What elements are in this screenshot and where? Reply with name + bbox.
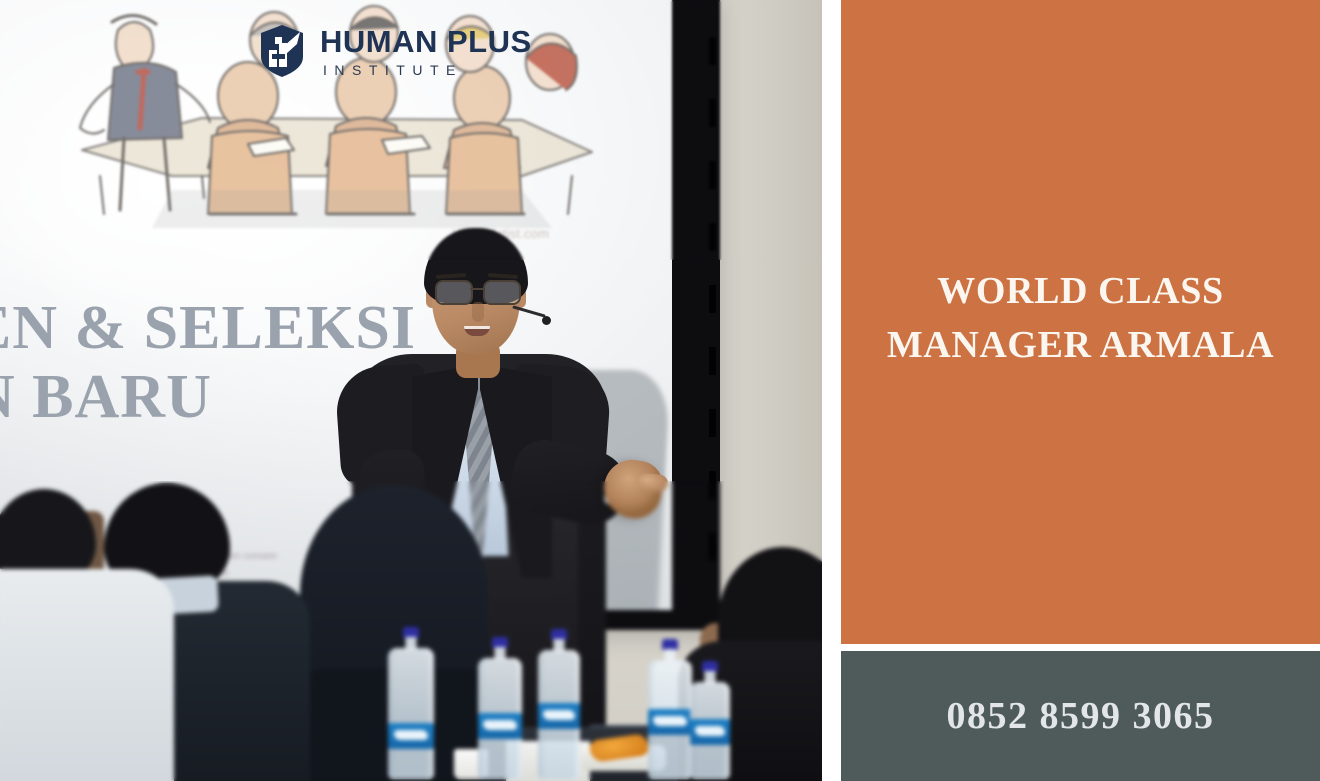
logo-title: HUMAN PLUS — [320, 26, 532, 57]
poster-root: HikingArtist.com TMEN & SELEKSI WAN BARU… — [0, 0, 1320, 781]
logo-subtitle: INSTITUTE — [320, 63, 532, 77]
audience-foreground — [0, 481, 822, 781]
poster-title-line-2: MANAGER ARMALA — [887, 319, 1274, 373]
eyeglass-lens-right — [483, 280, 521, 305]
logo-wordmark: HUMAN PLUS INSTITUTE — [320, 26, 532, 77]
contact-panel[interactable]: 0852 8599 3065 — [841, 651, 1320, 781]
eyeglass-bridge — [470, 288, 484, 290]
water-bottle-3 — [538, 629, 580, 779]
poster-title-line-1: WORLD CLASS — [887, 265, 1274, 319]
headset-microphone-icon — [542, 316, 551, 325]
eyeglass-lens-left — [435, 280, 473, 305]
eyeglasses-icon — [434, 280, 520, 302]
bottle-body — [388, 648, 434, 779]
audience-member-1-body — [0, 569, 174, 781]
human-plus-shield-mark-icon — [258, 24, 306, 78]
human-plus-institute-logo: HUMAN PLUS INSTITUTE — [258, 24, 532, 78]
title-panel: WORLD CLASS MANAGER ARMALA — [841, 0, 1320, 644]
water-bottle-1 — [388, 627, 434, 779]
water-bottle-5 — [690, 661, 730, 779]
poster-title: WORLD CLASS MANAGER ARMALA — [869, 265, 1292, 373]
bottle-label — [478, 713, 522, 739]
speaker-nose — [472, 302, 484, 322]
bottle-label — [388, 723, 434, 749]
water-bottle-2 — [478, 637, 522, 779]
bottle-label — [538, 703, 580, 729]
bottle-label — [690, 719, 730, 745]
bottle-label — [648, 709, 692, 735]
contact-phone-number[interactable]: 0852 8599 3065 — [947, 694, 1215, 738]
seminar-photograph: HikingArtist.com TMEN & SELEKSI WAN BARU… — [0, 0, 822, 781]
water-bottle-4 — [648, 639, 692, 779]
